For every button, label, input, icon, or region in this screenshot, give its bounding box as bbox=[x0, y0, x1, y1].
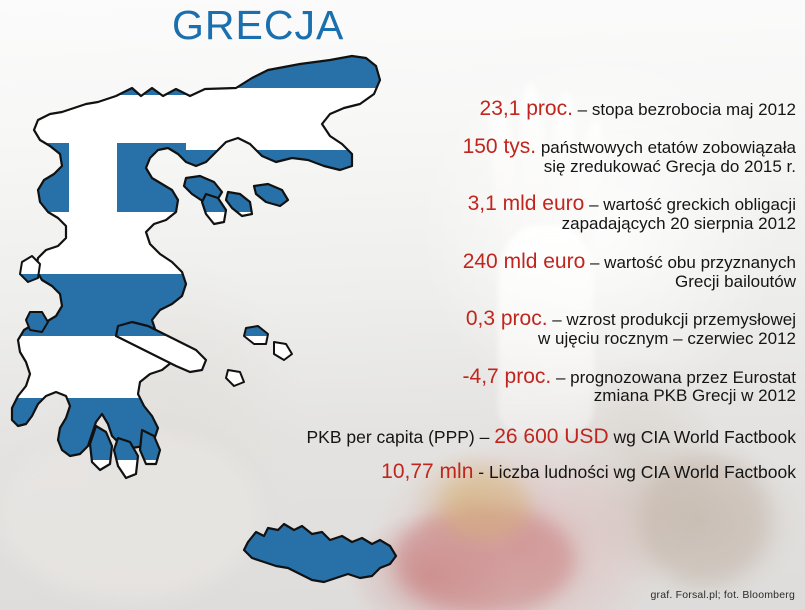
stat-value: 150 tys. bbox=[463, 135, 537, 158]
stat-value: -4,7 proc. bbox=[463, 365, 552, 388]
map-crete bbox=[244, 524, 396, 582]
stat-public-jobs-cut: 150 tys. państwowych etatów zobowiązała … bbox=[180, 136, 796, 176]
stat-description-line2: zapadających 20 sierpnia 2012 bbox=[562, 214, 796, 233]
stat-gdp-forecast: -4,7 proc. – prognozowana przez Eurostat… bbox=[180, 366, 796, 406]
stat-value: 240 mld euro bbox=[463, 250, 586, 273]
stat-value: 26 600 USD bbox=[494, 425, 608, 448]
infographic-canvas: GRECJA bbox=[0, 0, 805, 610]
stat-description: – stopa bezrobocia maj 2012 bbox=[573, 100, 796, 119]
stat-description-line2: zmiana PKB Grecji w 2012 bbox=[594, 386, 796, 405]
credit-line: graf. Forsal.pl; fot. Bloomberg bbox=[650, 589, 795, 601]
stat-description: – prognozowana przez Eurostat bbox=[551, 368, 796, 387]
stat-bonds-value: 3,1 mld euro – wartość greckich obligacj… bbox=[180, 193, 796, 233]
stat-suffix: wg CIA World Factbook bbox=[609, 427, 796, 447]
stat-description-line2: w ujęciu rocznym – czerwiec 2012 bbox=[538, 329, 796, 348]
stat-population: 10,77 mln - Liczba ludności wg CIA World… bbox=[180, 461, 796, 483]
stat-unemployment: 23,1 proc. – stopa bezrobocia maj 2012 bbox=[180, 98, 796, 120]
stat-suffix: - Liczba ludności wg CIA World Factbook bbox=[473, 462, 796, 482]
stat-bailouts-value: 240 mld euro – wartość obu przyznanych G… bbox=[180, 251, 796, 291]
stat-description-line2: się zredukować Grecja do 2015 r. bbox=[544, 157, 796, 176]
stat-gdp-per-capita: PKB per capita (PPP) – 26 600 USD wg CIA… bbox=[180, 426, 796, 448]
stat-description: – wartość greckich obligacji bbox=[584, 195, 796, 214]
stat-industrial-production: 0,3 proc. – wzrost produkcji przemysłowe… bbox=[180, 308, 796, 348]
stat-description: – wartość obu przyznanych bbox=[585, 253, 796, 272]
stat-description: państwowych etatów zobowiązała bbox=[536, 138, 796, 157]
stat-value: 23,1 proc. bbox=[480, 97, 573, 120]
statistics-list: 23,1 proc. – stopa bezrobocia maj 2012 1… bbox=[180, 98, 796, 495]
stat-value: 3,1 mld euro bbox=[468, 192, 585, 215]
stat-prefix: PKB per capita (PPP) – bbox=[306, 427, 494, 447]
stat-description: – wzrost produkcji przemysłowej bbox=[548, 310, 796, 329]
stat-value: 0,3 proc. bbox=[466, 307, 548, 330]
stat-description-line2: Grecji bailoutów bbox=[675, 272, 796, 291]
stat-value: 10,77 mln bbox=[381, 460, 473, 483]
